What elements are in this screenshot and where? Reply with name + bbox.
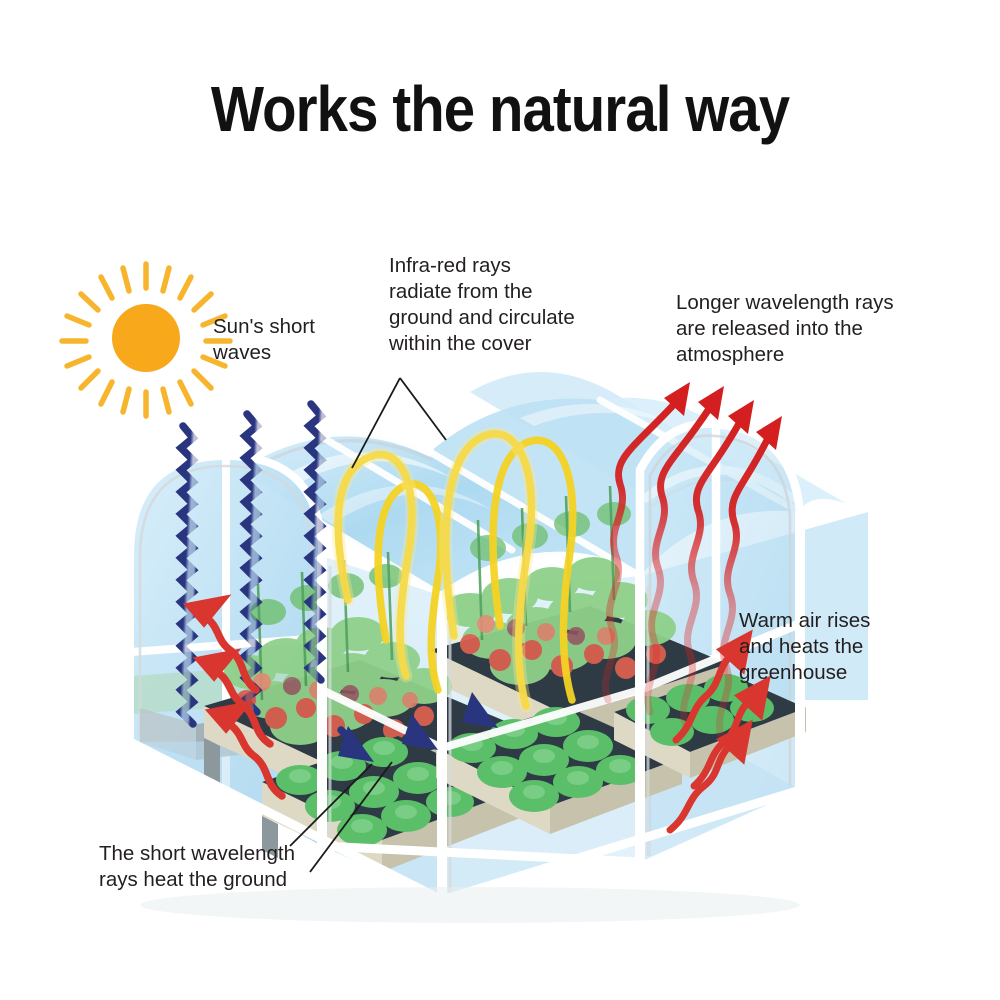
infographic-canvas: Works the natural way (0, 0, 1000, 1000)
label-sun-short-waves: Sun's short waves (213, 314, 315, 366)
sun-icon (62, 264, 230, 416)
label-warm-air: Warm air rises and heats the greenhouse (739, 608, 870, 686)
label-infrared-rays: Infra-red rays radiate from the ground a… (389, 253, 575, 357)
label-longer-wavelength: Longer wavelength rays are released into… (676, 290, 894, 368)
label-short-wavelength: The short wavelength rays heat the groun… (99, 841, 295, 893)
